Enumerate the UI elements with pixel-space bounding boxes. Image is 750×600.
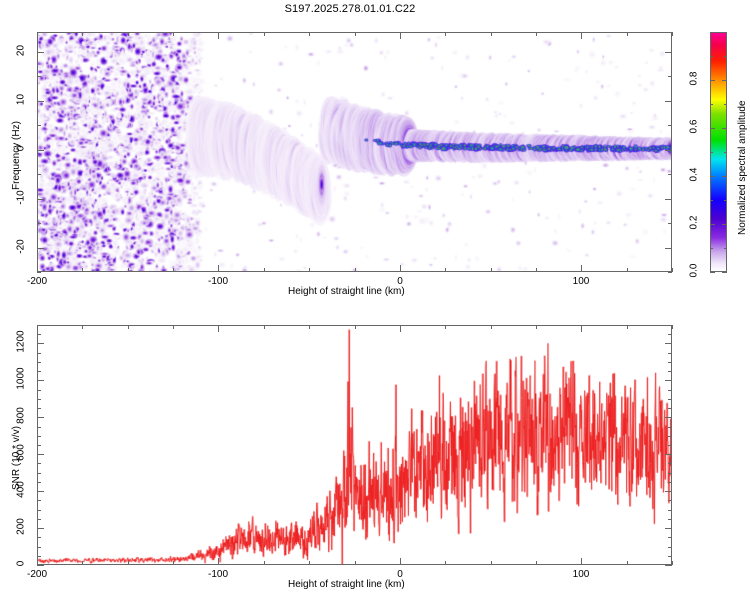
axis-tick [37, 248, 44, 249]
axis-tick [400, 32, 401, 39]
axis-tick [722, 176, 727, 177]
axis-tick [710, 128, 715, 129]
axis-tick [37, 556, 41, 557]
axis-tick [128, 325, 129, 329]
axis-tick [491, 268, 492, 272]
axis-tick [355, 268, 356, 272]
axis-tick [665, 380, 672, 381]
axis-tick [627, 32, 628, 36]
axis-tick [173, 32, 174, 36]
axis-tick [710, 272, 715, 273]
axis-tick [37, 399, 41, 400]
axis-tick [668, 463, 672, 464]
axis-tick [536, 561, 537, 565]
axis-tick [37, 223, 41, 224]
axis-tick [445, 561, 446, 565]
axis-tick [37, 380, 44, 381]
axis-tick [724, 248, 727, 249]
axis-tick [445, 32, 446, 36]
axis-tick [173, 561, 174, 565]
axis-tick-label: 800 [16, 403, 27, 429]
axis-tick [37, 519, 41, 520]
axis-tick [710, 104, 713, 105]
axis-tick [37, 558, 38, 565]
axis-tick-label: 200 [16, 514, 27, 540]
axis-tick [672, 268, 673, 272]
colorbar-tick-label: 0.0 [689, 258, 700, 284]
axis-tick [491, 561, 492, 565]
axis-tick [37, 272, 41, 273]
axis-tick [37, 491, 44, 492]
spectrogram-image [38, 33, 671, 271]
axis-tick [37, 362, 41, 363]
spectrogram-plot-area[interactable] [37, 32, 672, 272]
axis-tick [710, 200, 713, 201]
axis-tick [672, 561, 673, 565]
axis-tick [82, 561, 83, 565]
axis-tick-label: 100 [573, 276, 590, 287]
axis-tick [668, 334, 672, 335]
axis-tick [672, 32, 673, 36]
axis-tick [37, 334, 41, 335]
spectrogram-yaxis-label: Frequency (Hz) [11, 121, 22, 190]
axis-tick [668, 125, 672, 126]
axis-tick [668, 556, 672, 557]
axis-tick [536, 32, 537, 36]
axis-tick-label: -100 [208, 276, 228, 287]
axis-tick-label: 1000 [16, 366, 27, 392]
axis-tick [581, 265, 582, 272]
axis-tick-label: 100 [573, 569, 590, 580]
axis-tick [37, 436, 41, 437]
axis-tick [37, 510, 41, 511]
axis-tick [581, 558, 582, 565]
axis-tick [665, 528, 672, 529]
axis-tick [724, 200, 727, 201]
colorbar-tick-label: 0.8 [689, 66, 700, 92]
axis-tick [722, 80, 727, 81]
axis-tick [668, 174, 672, 175]
axis-tick [445, 325, 446, 329]
colorbar-tick-label: 0.6 [689, 114, 700, 140]
axis-tick [37, 199, 44, 200]
axis-tick [445, 268, 446, 272]
axis-tick-label: 0 [16, 551, 27, 577]
axis-tick [581, 325, 582, 332]
axis-tick [173, 325, 174, 329]
axis-tick [710, 152, 713, 153]
axis-tick [400, 325, 401, 332]
axis-tick [668, 500, 672, 501]
figure-title: S197.2025.278.01.01.C22 [0, 3, 700, 15]
snr-xaxis-label: Height of straight line (km) [288, 579, 405, 590]
axis-tick [722, 272, 727, 273]
axis-tick [710, 176, 715, 177]
colorbar-label: Normalized spectral amplitude [737, 100, 748, 235]
axis-tick [37, 32, 38, 39]
colorbar-tick-label: 0.2 [689, 210, 700, 236]
axis-tick [665, 417, 672, 418]
axis-tick [536, 268, 537, 272]
axis-tick [668, 408, 672, 409]
axis-tick [710, 32, 713, 33]
axis-tick [264, 32, 265, 36]
axis-tick [37, 125, 41, 126]
axis-tick [355, 32, 356, 36]
axis-tick [128, 268, 129, 272]
axis-tick [672, 325, 673, 329]
axis-tick [400, 558, 401, 565]
axis-tick [668, 272, 672, 273]
colorbar-tick-label: 0.4 [689, 162, 700, 188]
axis-tick [37, 537, 41, 538]
axis-tick [37, 343, 44, 344]
axis-tick [627, 325, 628, 329]
axis-tick [724, 32, 727, 33]
axis-tick [264, 268, 265, 272]
axis-tick [128, 561, 129, 565]
axis-tick [665, 150, 672, 151]
axis-tick [710, 248, 713, 249]
axis-tick [491, 32, 492, 36]
axis-tick [668, 76, 672, 77]
axis-tick [309, 32, 310, 36]
axis-tick [668, 371, 672, 372]
axis-tick [400, 265, 401, 272]
axis-tick-label: -200 [27, 276, 47, 287]
axis-tick [37, 265, 38, 272]
axis-tick [668, 537, 672, 538]
axis-tick [37, 390, 41, 391]
axis-tick [724, 56, 727, 57]
axis-tick [218, 558, 219, 565]
axis-tick [665, 343, 672, 344]
axis-tick [37, 325, 38, 332]
axis-tick [722, 128, 727, 129]
axis-tick [218, 265, 219, 272]
axis-tick [668, 427, 672, 428]
axis-tick [37, 150, 44, 151]
axis-tick [724, 152, 727, 153]
axis-tick [668, 362, 672, 363]
axis-tick [37, 547, 41, 548]
spectrogram-xaxis-label: Height of straight line (km) [288, 286, 405, 297]
axis-tick [668, 445, 672, 446]
axis-tick [37, 101, 44, 102]
axis-tick [218, 325, 219, 332]
snr-line-trace [38, 326, 671, 564]
axis-tick [668, 519, 672, 520]
axis-tick [668, 399, 672, 400]
axis-tick [355, 325, 356, 329]
axis-tick [668, 325, 672, 326]
axis-tick [668, 436, 672, 437]
axis-tick [37, 76, 41, 77]
axis-tick [82, 268, 83, 272]
axis-tick-label: 20 [16, 38, 27, 64]
axis-tick [37, 463, 41, 464]
axis-tick [627, 268, 628, 272]
axis-tick [37, 500, 41, 501]
axis-tick [37, 52, 44, 53]
axis-tick [710, 224, 715, 225]
axis-tick [37, 427, 41, 428]
axis-tick [37, 417, 44, 418]
axis-tick [665, 248, 672, 249]
axis-tick [128, 32, 129, 36]
axis-tick [668, 482, 672, 483]
axis-tick-label: -200 [27, 569, 47, 580]
axis-tick [37, 174, 41, 175]
figure-root: S197.2025.278.01.01.C22 -200-1000100-20-… [0, 0, 750, 600]
axis-tick [37, 482, 41, 483]
axis-tick [668, 510, 672, 511]
axis-tick [668, 353, 672, 354]
axis-tick [82, 325, 83, 329]
axis-tick [309, 325, 310, 329]
axis-tick [536, 325, 537, 329]
axis-tick [668, 223, 672, 224]
axis-tick [37, 528, 44, 529]
axis-tick [665, 52, 672, 53]
axis-tick [37, 473, 41, 474]
axis-tick [218, 32, 219, 39]
axis-tick-label: -20 [16, 234, 27, 260]
axis-tick-label: 10 [16, 87, 27, 113]
axis-tick [710, 80, 715, 81]
axis-tick [37, 353, 41, 354]
axis-tick [173, 268, 174, 272]
axis-tick-label: -100 [208, 569, 228, 580]
axis-tick [37, 325, 41, 326]
axis-tick [627, 561, 628, 565]
axis-tick [355, 561, 356, 565]
axis-tick [668, 390, 672, 391]
axis-tick [491, 325, 492, 329]
axis-tick [37, 565, 44, 566]
axis-tick [665, 491, 672, 492]
axis-tick [668, 473, 672, 474]
axis-tick [37, 408, 41, 409]
axis-tick [722, 224, 727, 225]
axis-tick [668, 547, 672, 548]
snr-plot-area[interactable] [37, 325, 672, 565]
axis-tick [309, 268, 310, 272]
axis-tick [37, 445, 41, 446]
axis-tick [710, 56, 713, 57]
axis-tick [665, 101, 672, 102]
axis-tick [665, 565, 672, 566]
axis-tick [82, 32, 83, 36]
axis-tick [665, 199, 672, 200]
axis-tick [309, 561, 310, 565]
axis-tick [37, 371, 41, 372]
axis-tick-label: 1200 [16, 329, 27, 355]
axis-tick [665, 454, 672, 455]
axis-tick [264, 561, 265, 565]
axis-tick [37, 454, 44, 455]
axis-tick [724, 104, 727, 105]
axis-tick [264, 325, 265, 329]
axis-tick [581, 32, 582, 39]
snr-yaxis-label: SNR (10 * v/v) [11, 426, 22, 490]
